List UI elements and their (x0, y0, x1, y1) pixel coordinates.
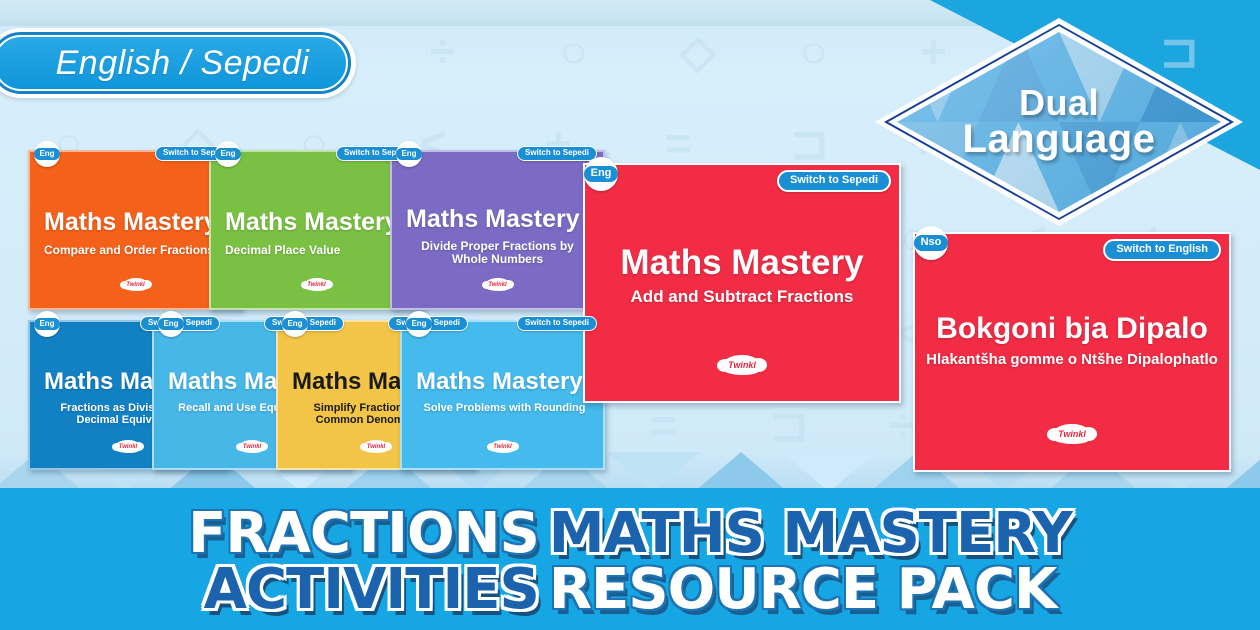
card-title: Maths Mastery (585, 245, 899, 280)
card-title: Maths Mastery (416, 370, 603, 394)
card-body: Bokgoni bja Dipalo Hlakantšha gomme o Nt… (915, 234, 1229, 470)
facet-triangle (694, 452, 788, 492)
language-indicator-label: Eng (34, 148, 59, 160)
switch-language-button[interactable]: Switch to Sepedi (517, 316, 597, 331)
dual-language-line2: Language (963, 120, 1156, 159)
twinkl-wordmark: Twinkl (1052, 424, 1092, 444)
card-solve-problems-rounding[interactable]: Maths Mastery Solve Problems with Roundi… (400, 320, 605, 470)
dual-language-badge: Dual Language (875, 18, 1243, 226)
language-indicator-badge: Eng (282, 311, 308, 337)
card-body: Maths Mastery Divide Proper Fractions by… (392, 152, 603, 308)
twinkl-wordmark: Twinkl (490, 440, 516, 453)
math-symbol-4: ○ (560, 28, 588, 74)
twinkl-wordmark: Twinkl (485, 278, 511, 291)
poster-title: FRACTIONS MATHS MASTERY ACTIVITIES RESOU… (0, 498, 1260, 626)
language-pill-label: English / Sepedi (32, 44, 310, 83)
card-subtitle: Hlakantšha gomme o Ntšhe Dipalophatlo (915, 352, 1229, 369)
dual-language-line1: Dual (1019, 85, 1099, 120)
language-indicator-label: Eng (584, 166, 619, 182)
twinkl-logo: Twinkl (490, 440, 516, 453)
math-symbol-3: ÷ (430, 28, 455, 74)
dual-language-label: Dual Language (875, 18, 1243, 226)
title-word-fractions: FRACTIONS (188, 507, 539, 561)
poster-canvas: +=⊐÷○◇○+=⊐○◇○<+=⊐÷○◇<+=⊐÷○◇○<++=⊐÷○◇○<+=… (0, 0, 1260, 630)
card-bokgoni-bja-dipalo[interactable]: Bokgoni bja Dipalo Hlakantšha gomme o Nt… (913, 232, 1231, 472)
card-subtitle: Add and Subtract Fractions (585, 287, 899, 306)
poster-title-line-2: ACTIVITIES RESOURCE PACK (204, 563, 1057, 617)
math-symbol-4: ○ (800, 28, 828, 74)
language-indicator-label: Eng (34, 318, 59, 330)
language-pill[interactable]: English / Sepedi (0, 28, 356, 98)
twinkl-logo: Twinkl (239, 440, 265, 453)
language-indicator-label: Eng (282, 318, 307, 330)
twinkl-wordmark: Twinkl (304, 278, 330, 291)
card-title: Maths Mastery (406, 207, 603, 232)
language-indicator-badge: Eng (215, 141, 241, 167)
switch-language-button[interactable]: Switch to Sepedi (777, 170, 891, 192)
title-word-resource-pack: RESOURCE PACK (549, 563, 1057, 617)
language-indicator-badge: Nso (914, 226, 948, 260)
twinkl-logo: Twinkl (1052, 424, 1092, 444)
math-symbol-1: = (650, 402, 677, 448)
card-body: Maths Mastery Solve Problems with Roundi… (402, 322, 603, 468)
title-word-activities: ACTIVITIES (204, 563, 539, 617)
math-symbol-5: ◇ (680, 28, 715, 74)
facet-triangle (782, 452, 876, 492)
language-indicator-badge: Eng (406, 311, 432, 337)
twinkl-wordmark: Twinkl (123, 278, 149, 291)
twinkl-logo: Twinkl (123, 278, 149, 291)
card-subtitle: Solve Problems with Rounding (416, 402, 593, 414)
language-indicator-label: Eng (158, 318, 183, 330)
language-indicator-label: Eng (215, 148, 240, 160)
language-indicator-badge: Eng (396, 141, 422, 167)
switch-language-button[interactable]: Switch to English (1103, 239, 1221, 261)
poster-title-line-1: FRACTIONS MATHS MASTERY (188, 507, 1072, 561)
twinkl-logo: Twinkl (722, 355, 762, 375)
twinkl-logo: Twinkl (115, 440, 141, 453)
card-divide-proper-fractions[interactable]: Maths Mastery Divide Proper Fractions by… (390, 150, 605, 310)
math-symbol-3: ÷ (890, 402, 915, 448)
card-add-subtract-fractions[interactable]: Maths Mastery Add and Subtract Fractions… (583, 163, 901, 403)
language-indicator-label: Nso (914, 235, 949, 251)
language-indicator-badge: Eng (34, 311, 60, 337)
card-title: Bokgoni bja Dipalo (915, 314, 1229, 344)
math-symbol-2: ⊐ (790, 120, 829, 166)
card-subtitle: Divide Proper Fractions by Whole Numbers (410, 240, 585, 267)
twinkl-logo: Twinkl (485, 278, 511, 291)
language-indicator-label: Eng (396, 148, 421, 160)
card-body: Maths Mastery Add and Subtract Fractions… (585, 165, 899, 401)
twinkl-wordmark: Twinkl (239, 440, 265, 453)
twinkl-logo: Twinkl (304, 278, 330, 291)
twinkl-wordmark: Twinkl (363, 440, 389, 453)
twinkl-logo: Twinkl (363, 440, 389, 453)
math-symbol-1: = (665, 120, 692, 166)
language-indicator-badge: Eng (158, 311, 184, 337)
language-indicator-label: Eng (406, 318, 431, 330)
facet-triangle (606, 452, 700, 492)
math-symbol-2: ⊐ (770, 402, 809, 448)
twinkl-wordmark: Twinkl (722, 355, 762, 375)
language-indicator-badge: Eng (34, 141, 60, 167)
language-indicator-badge: Eng (584, 157, 618, 191)
twinkl-wordmark: Twinkl (115, 440, 141, 453)
title-word-maths-mastery: MATHS MASTERY (549, 507, 1072, 561)
switch-language-button[interactable]: Switch to Sepedi (517, 146, 597, 161)
language-pill-inner: English / Sepedi (0, 35, 348, 91)
